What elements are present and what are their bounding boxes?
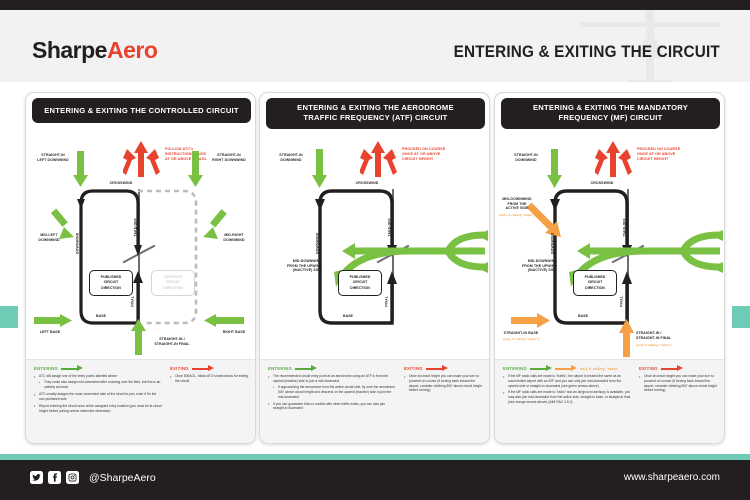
label-left-base: LEFT BASE [30, 330, 70, 335]
label-base-atf: BASE [336, 314, 360, 319]
bullet-text: Report entering the circuit once at the … [39, 404, 162, 413]
exiting-column-atf: EXITING Once at circuit height you can m… [404, 366, 483, 439]
exiting-column-mf: EXITING Once at circuit height you can m… [639, 366, 718, 439]
page-footer: @SharpeAero www.sharpeaero.com [0, 460, 750, 500]
bullet-subtext: They could also assign mid-downwind afte… [44, 380, 160, 389]
bullet-item: Once at circuit height you can make your… [404, 374, 483, 393]
exiting-label: EXITING [639, 366, 658, 371]
brand-logo: SharpeAero [32, 37, 157, 64]
exiting-bullets-mf: Once at circuit height you can make your… [639, 374, 718, 393]
label-straight-in-left-downwind: STRAIGHT-IN LEFT DOWNWIND [28, 153, 78, 162]
website-url[interactable]: www.sharpeaero.com [624, 472, 720, 483]
label-mid-downwind-active-sub-mf: (only if calling "radio") [494, 213, 543, 217]
entry-arrows-orange-mf [495, 131, 725, 363]
entering-label: ENTERING [503, 366, 527, 371]
entering-label: ENTERING [268, 366, 292, 371]
pill-published-direction-controlled: PUBLISHED CIRCUIT DIRECTION [89, 270, 133, 296]
entering-column-mf: ENTERING only if calling "radio" If the … [503, 366, 632, 439]
panel-atf-diagram: PROCEED ON COURSE ONCE AT OR ABOVE CIRCU… [260, 131, 490, 363]
panel-mf-title: ENTERING & EXITING THE MANDATORY FREQUEN… [501, 98, 720, 129]
entering-bullets-controlled: ATC will assign one of the entry points … [34, 374, 163, 413]
label-takeoff-mf: TAKE-OFF [623, 211, 628, 243]
label-downwind-atf: DOWNWIND [316, 225, 321, 261]
label-takeoff-atf: TAKE-OFF [388, 211, 393, 243]
panel-controlled-diagram: FOLLOW ATC's INSTRUCTIONS ONCE AT OR ABO… [26, 131, 256, 363]
label-final-mf: FINAL [620, 288, 625, 314]
facebook-icon[interactable] [48, 471, 61, 484]
label-mid-downwind-active-mf: MID-DOWNWIND FROM THE ACTIVE SIDE [494, 197, 543, 211]
page-title: ENTERING & EXITING THE CIRCUIT [454, 42, 720, 62]
label-mid-right-downwind: MID-RIGHT DOWNWIND [212, 233, 256, 242]
exiting-arrow-icon [192, 368, 214, 370]
entering-heading-controlled: ENTERING [34, 366, 163, 371]
exiting-arrow-icon [426, 368, 448, 370]
bullet-subitem: If approaching the aerodrome from the ac… [273, 385, 397, 399]
label-right-base: RIGHT BASE [214, 330, 254, 335]
bullet-text: If the MF radio calls are made to "radio… [508, 390, 630, 404]
exiting-label: EXITING [170, 366, 189, 371]
entry-arrows-green-atf [260, 131, 490, 363]
entering-label: ENTERING [34, 366, 58, 371]
page-header: SharpeAero ENTERING & EXITING THE CIRCUI… [0, 10, 750, 82]
bullet-item: Once 500AGL, follow ATC's instructions f… [170, 374, 249, 384]
entering-heading-atf: ENTERING [268, 366, 397, 371]
panel-atf-notes: ENTERING The recommended circuit entry p… [260, 359, 490, 443]
bullet-text: If the MF radio calls are made to "traff… [508, 374, 621, 388]
exiting-column-controlled: EXITING Once 500AGL, follow ATC's instru… [170, 366, 249, 439]
bullet-text: Once at circuit height you can make your… [644, 374, 717, 392]
label-straight-in-final-sub-mf: (only if calling "radio") [636, 343, 698, 347]
label-straight-in-final-controlled: STRAIGHT-IN / STRAIGHT-IN FINAL [144, 337, 200, 346]
entering-column-controlled: ENTERING ATC will assign one of the entr… [34, 366, 163, 439]
entry-arrows-green [26, 131, 256, 363]
label-base-controlled: BASE [89, 314, 113, 319]
panel-controlled-title: ENTERING & EXITING THE CONTROLLED CIRCUI… [32, 98, 251, 123]
bullet-item: ATC will assign one of the entry points … [34, 374, 163, 390]
label-takeoff-controlled: TAKE-OFF [134, 211, 139, 243]
label-straight-in-right-downwind: STRAIGHT-IN RIGHT DOWNWIND [203, 153, 255, 162]
entering-optional-label: only if calling "radio" [580, 367, 619, 371]
label-final-atf: FINAL [385, 288, 390, 314]
bullet-subtext: If approaching the aerodrome from the ac… [278, 385, 395, 399]
instagram-icon[interactable] [66, 471, 79, 484]
panel-controlled-circuit: ENTERING & EXITING THE CONTROLLED CIRCUI… [25, 92, 256, 444]
top-accent-bar [0, 0, 750, 10]
label-mid-downwind-upwind-atf: MID-DOWNWIND FROM THE UPWIND (INACTIVE) … [259, 259, 322, 273]
bullet-text: Once 500AGL, follow ATC's instructions f… [175, 374, 248, 383]
exiting-label: EXITING [404, 366, 423, 371]
exiting-bullets-controlled: Once 500AGL, follow ATC's instructions f… [170, 374, 249, 384]
panel-mf-circuit: ENTERING & EXITING THE MANDATORY FREQUEN… [494, 92, 725, 444]
label-mid-left-downwind: MID-LEFT DOWNWIND [28, 233, 70, 242]
label-base-mf: BASE [571, 314, 595, 319]
label-straight-in-downwind-atf: STRAIGHT-IN DOWNWIND [266, 153, 316, 162]
bullet-text: ATC usually assigns the most convenient … [39, 392, 156, 401]
bullet-text: The recommended circuit entry point at a… [273, 374, 388, 383]
label-mid-downwind-upwind-mf: MID-DOWNWIND FROM THE UPWIND (INACTIVE) … [494, 259, 557, 273]
label-downwind-mf: DOWNWIND [551, 225, 556, 261]
bullet-item: Once at circuit height you can make your… [639, 374, 718, 393]
entering-arrow-icon [61, 368, 83, 370]
bullet-item: Report entering the circuit once at the … [34, 404, 163, 414]
entering-arrow-icon [530, 368, 552, 370]
bullet-item: If you can guarantee that no conflict wi… [268, 402, 397, 412]
panel-controlled-notes: ENTERING ATC will assign one of the entr… [26, 359, 256, 443]
pill-published-direction-atf: PUBLISHED CIRCUIT DIRECTION [338, 270, 382, 296]
exiting-heading-controlled: EXITING [170, 366, 249, 371]
social-links: @SharpeAero [30, 471, 156, 484]
pill-published-direction-mf: PUBLISHED CIRCUIT DIRECTION [573, 270, 617, 296]
panel-container: ENTERING & EXITING THE CONTROLLED CIRCUI… [0, 92, 750, 450]
bullet-item: If the MF radio calls are made to "radio… [503, 390, 632, 404]
exiting-bullets-atf: Once at circuit height you can make your… [404, 374, 483, 393]
label-downwind-controlled: DOWNWIND [76, 225, 81, 261]
exiting-heading-mf: EXITING [639, 366, 718, 371]
panel-mf-notes: ENTERING only if calling "radio" If the … [495, 359, 725, 443]
exiting-arrow-icon [661, 368, 683, 370]
entering-bullets-mf: If the MF radio calls are made to "traff… [503, 374, 632, 405]
label-crosswind-atf: CROSSWIND [348, 181, 386, 186]
social-handle[interactable]: @SharpeAero [89, 472, 156, 484]
bullet-text: ATC will assign one of the entry points … [39, 374, 117, 378]
bullet-item: The recommended circuit entry point at a… [268, 374, 397, 399]
panel-atf-title: ENTERING & EXITING THE AERODROME TRAFFIC… [266, 98, 485, 129]
bullet-subitem: They could also assign mid-downwind afte… [39, 380, 163, 390]
pill-opposite-direction-controlled: OPPOSITE CIRCUIT DIRECTION [151, 270, 195, 296]
entering-column-atf: ENTERING The recommended circuit entry p… [268, 366, 397, 439]
entering-arrow-icon [295, 368, 317, 370]
brand-name-primary: Sharpe [32, 37, 107, 63]
panel-mf-diagram: PROCEED ON COURSE ONCE AT OR ABOVE CIRCU… [495, 131, 725, 363]
brand-name-accent: Aero [107, 37, 157, 63]
bullet-text: Once at circuit height you can make your… [409, 374, 482, 392]
label-straight-in-downwind-mf: STRAIGHT-IN DOWNWIND [501, 153, 551, 162]
twitter-icon[interactable] [30, 471, 43, 484]
exiting-heading-atf: EXITING [404, 366, 483, 371]
label-crosswind-mf: CROSSWIND [583, 181, 621, 186]
label-straight-in-base-mf: STRAIGHT-IN BASE [494, 331, 549, 336]
label-straight-in-base-sub-mf: (only if calling "radio") [494, 337, 549, 341]
panel-atf-circuit: ENTERING & EXITING THE AERODROME TRAFFIC… [259, 92, 490, 444]
bullet-item: ATC usually assigns the most convenient … [34, 392, 163, 402]
entering-heading-mf: ENTERING only if calling "radio" [503, 366, 632, 371]
label-straight-in-final-mf: STRAIGHT-IN / STRAIGHT-IN FINAL [636, 331, 698, 340]
bullet-text: If you can guarantee that no conflict wi… [273, 402, 385, 411]
entering-bullets-atf: The recommended circuit entry point at a… [268, 374, 397, 411]
entering-arrow-optional-icon [555, 368, 577, 370]
label-crosswind-controlled: CROSSWIND [102, 181, 140, 186]
bullet-item: If the MF radio calls are made to "traff… [503, 374, 632, 388]
